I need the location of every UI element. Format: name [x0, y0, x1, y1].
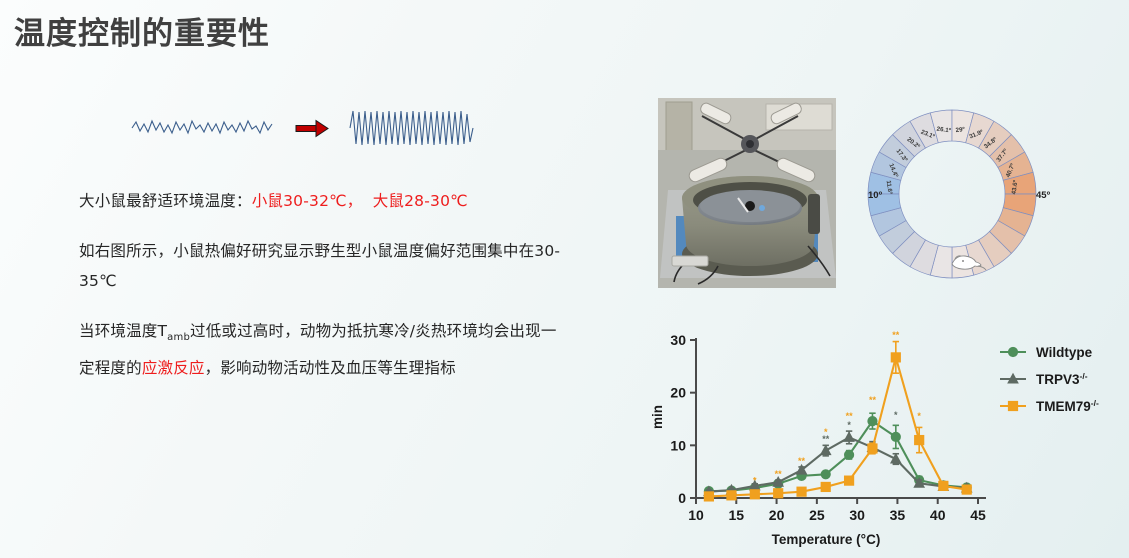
x-tick-45: 45 — [970, 507, 986, 523]
data-point — [868, 444, 877, 453]
significance-mark-1: ** — [775, 469, 783, 479]
data-point — [868, 417, 877, 426]
thermal-preference-line-chart: 01020301015202530354045 ****************… — [648, 322, 1118, 550]
p1-rat-temp: 大鼠28-30℃ — [373, 192, 468, 210]
data-point — [844, 432, 854, 441]
x-axis-title: Temperature (°C) — [772, 532, 881, 547]
data-point — [727, 491, 736, 500]
x-tick-35: 35 — [890, 507, 906, 523]
y-axis-title: min — [650, 405, 665, 429]
p3-stress-response: 应激反应 — [142, 359, 205, 377]
data-point — [962, 485, 971, 494]
irregular-wave-icon — [132, 121, 272, 133]
legend-marker-2 — [1008, 401, 1017, 410]
significance-mark-4: ** — [822, 434, 830, 444]
data-point — [891, 353, 900, 362]
p1-lead-text: 大小鼠最舒适环境温度： — [79, 192, 252, 210]
red-arrow-icon — [296, 121, 328, 137]
paragraph-preference-range: 如右图所示，小鼠热偏好研究显示野生型小鼠温度偏好范围集中在30-35℃ — [79, 236, 569, 296]
data-point — [891, 432, 900, 441]
significance-mark-9: * — [894, 410, 898, 420]
data-point — [797, 487, 806, 496]
legend-label-2: TMEM79-/- — [1036, 398, 1099, 414]
thermal-gradient-ring-apparatus-photo — [658, 98, 836, 288]
p3-part-c: ，影响动物活动性及血压等生理指标 — [205, 359, 456, 377]
chart-legend: WildtypeTRPV3-/-TMEM79-/- — [1000, 345, 1099, 414]
x-tick-20: 20 — [769, 507, 785, 523]
data-point — [915, 435, 924, 444]
p3-subscript-amb: amb — [167, 332, 190, 343]
y-tick-30: 30 — [670, 332, 686, 348]
data-point — [821, 482, 830, 491]
x-tick-40: 40 — [930, 507, 946, 523]
significance-mark-7: ** — [869, 395, 877, 405]
p3-part-a: 当环境温度T — [79, 322, 167, 340]
page-title: 温度控制的重要性 — [14, 8, 270, 53]
paragraph-comfort-temperature: 大小鼠最舒适环境温度：小鼠30-32℃， 大鼠28-30℃ — [79, 186, 599, 216]
x-tick-15: 15 — [728, 507, 744, 523]
significance-mark-2: ** — [798, 456, 806, 466]
data-point — [704, 492, 713, 501]
p1-mouse-temp: 小鼠30-32℃， — [252, 192, 363, 210]
chart-series — [704, 342, 972, 501]
significance-mark-8: ** — [892, 330, 900, 340]
data-point — [844, 476, 853, 485]
x-tick-10: 10 — [688, 507, 704, 523]
ring-start-label: 10º — [868, 190, 883, 201]
y-tick-0: 0 — [678, 490, 686, 506]
legend-label-1: TRPV3-/- — [1036, 371, 1088, 387]
x-tick-25: 25 — [809, 507, 825, 523]
significance-mark-10: * — [917, 411, 921, 421]
x-tick-30: 30 — [849, 507, 865, 523]
data-point — [774, 489, 783, 498]
chart-axes: 01020301015202530354045 — [670, 332, 986, 523]
data-point — [821, 445, 831, 454]
regular-wave-icon — [350, 111, 473, 145]
paragraph-stress-response: 当环境温度Tamb过低或过高时，动物为抵抗寒冷/炎热环境均会出现一定程度的应激反… — [79, 316, 564, 383]
y-tick-20: 20 — [670, 385, 686, 401]
waveform-illustration — [128, 102, 483, 154]
thermal-gradient-ring-diagram: 11.6º14.4º17.3º20.2º23.1º26.1º29º31.9º34… — [862, 98, 1062, 290]
ring-end-label: 45º — [1036, 190, 1051, 201]
data-point — [939, 481, 948, 490]
data-point — [844, 450, 853, 459]
legend-label-0: Wildtype — [1036, 345, 1093, 360]
significance-mark-0: * — [753, 475, 757, 485]
data-point — [821, 470, 830, 479]
ring-label-6: 29º — [955, 126, 966, 134]
significance-mark-6: * — [847, 420, 851, 430]
data-point — [750, 490, 759, 499]
series-line-2 — [709, 357, 967, 496]
legend-marker-0 — [1008, 347, 1017, 356]
y-tick-10: 10 — [670, 437, 686, 453]
